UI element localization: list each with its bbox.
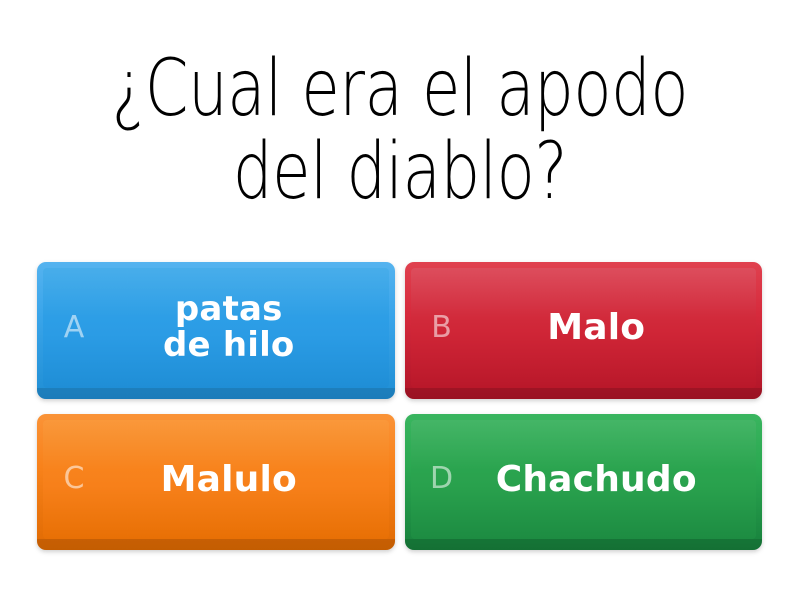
question-text: ¿Cual era el apodo del diablo?	[85, 48, 715, 215]
answer-letter-d: D	[419, 464, 465, 494]
answer-option-a[interactable]: A patas de hilo	[37, 262, 395, 399]
answer-option-d-inner: D Chachudo	[411, 420, 757, 540]
answer-letter-a: A	[51, 313, 97, 343]
question-area: ¿Cual era el apodo del diablo?	[0, 0, 800, 262]
answer-label-b: Malo	[465, 309, 747, 346]
answer-letter-c: C	[51, 464, 97, 494]
answer-option-c[interactable]: C Malulo	[37, 414, 395, 551]
answer-option-b[interactable]: B Malo	[405, 262, 763, 399]
answer-option-d[interactable]: D Chachudo	[405, 414, 763, 551]
quiz-screen: ¿Cual era el apodo del diablo? A patas d…	[0, 0, 800, 600]
answer-option-b-inner: B Malo	[411, 268, 757, 388]
answer-option-c-inner: C Malulo	[43, 420, 389, 540]
answer-option-a-inner: A patas de hilo	[43, 268, 389, 388]
answer-label-d: Chachudo	[465, 461, 747, 498]
answer-letter-b: B	[419, 313, 465, 343]
answer-label-a: patas de hilo	[97, 292, 379, 363]
answer-options-grid: A patas de hilo B Malo C Malulo D Chachu…	[0, 262, 800, 600]
answer-label-c: Malulo	[97, 461, 379, 498]
